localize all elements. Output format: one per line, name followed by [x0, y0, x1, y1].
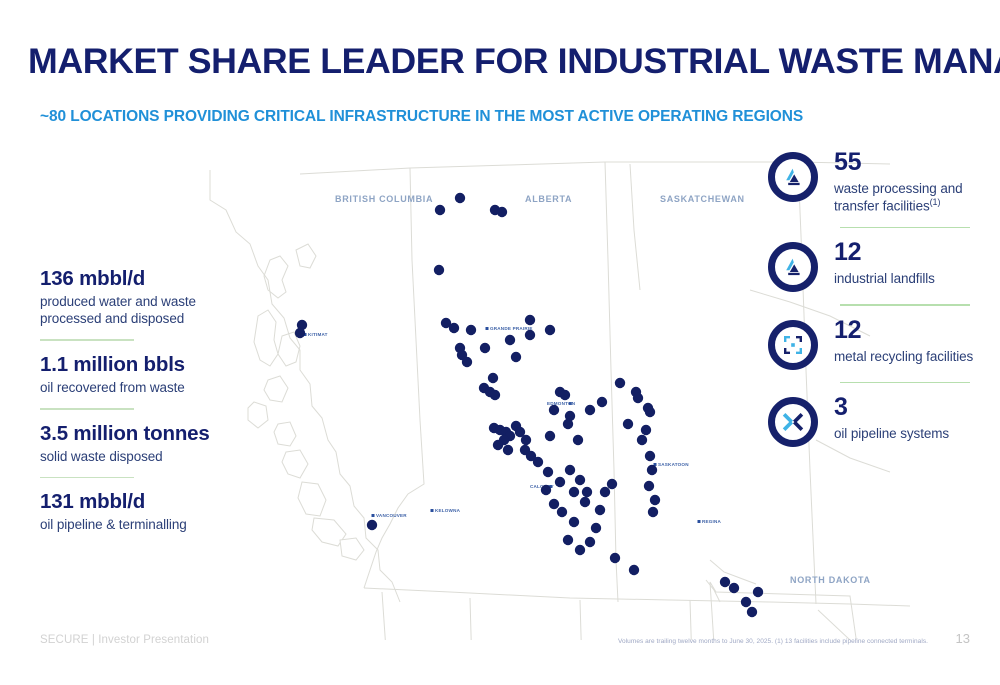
- map-site-dot: [462, 357, 472, 367]
- map-site-dot: [647, 465, 657, 475]
- landfill-icon: [768, 242, 818, 292]
- right-stat-value: 12: [834, 240, 935, 265]
- map-site-dot: [549, 499, 559, 509]
- right-stat-text: 3oil pipeline systems: [834, 395, 949, 442]
- left-stat-item: 136 mbbl/dproduced water and waste proce…: [40, 268, 255, 327]
- map-site-dot: [555, 477, 565, 487]
- map-site-dot: [466, 325, 476, 335]
- right-stat-description: waste processing and transfer facilities…: [834, 180, 983, 215]
- footer-brand: SECURE | Investor Presentation: [40, 634, 209, 646]
- map-site-dot: [497, 207, 507, 217]
- right-stat-value: 55: [834, 150, 983, 175]
- right-stat-description-text: oil pipeline systems: [834, 426, 949, 441]
- map-site-dot: [623, 419, 633, 429]
- slide-root: BRITISH COLUMBIAALBERTASASKATCHEWANNORTH…: [0, 0, 1000, 685]
- map-site-dot: [521, 435, 531, 445]
- map-province-label: NORTH DAKOTA: [790, 575, 871, 585]
- stat-divider: [840, 304, 970, 306]
- right-stats-list: 55waste processing and transfer faciliti…: [768, 150, 983, 447]
- right-stat-description: metal recycling facilities: [834, 348, 973, 365]
- right-stat-item: 55waste processing and transfer faciliti…: [768, 150, 983, 215]
- map-site-dot: [575, 545, 585, 555]
- map-city-label: VANCOUVER: [376, 513, 407, 518]
- left-stat-item: 131 mbbl/doil pipeline & terminalling: [40, 491, 255, 533]
- map-site-dot: [580, 497, 590, 507]
- map-site-dot: [503, 445, 513, 455]
- left-stat-item: 1.1 million bblsoil recovered from waste: [40, 354, 255, 396]
- footnote-text: Volumes are trailing twelve months to Ju…: [618, 638, 928, 645]
- map-city-label: KITIMAT: [308, 332, 328, 337]
- left-stats-list: 136 mbbl/dproduced water and waste proce…: [40, 268, 255, 534]
- map-site-dot: [569, 487, 579, 497]
- map-province-label: SASKATCHEWAN: [660, 194, 745, 204]
- map-site-dot: [753, 587, 763, 597]
- map-site-dot: [575, 475, 585, 485]
- map-site-dot: [607, 479, 617, 489]
- map-site-dot: [525, 330, 535, 340]
- map-city-label: KELOWNA: [435, 508, 461, 513]
- right-stat-item: 12industrial landfills: [768, 240, 983, 292]
- map-city-marker: [486, 327, 489, 330]
- map-site-dot: [595, 505, 605, 515]
- left-stat-value: 136 mbbl/d: [40, 268, 255, 291]
- metal-recycling-icon: [768, 320, 818, 370]
- map-site-dot: [541, 485, 551, 495]
- map-site-dot: [367, 520, 377, 530]
- map-city-label: EDMONTON: [547, 401, 576, 406]
- map-site-dot: [629, 565, 639, 575]
- map-site-dot: [493, 440, 503, 450]
- right-stat-description-text: waste processing and transfer facilities: [834, 181, 963, 214]
- map-site-dot: [549, 405, 559, 415]
- stat-divider: [40, 339, 134, 341]
- map-site-dot: [645, 451, 655, 461]
- page-number: 13: [956, 631, 970, 646]
- map-site-dot: [533, 457, 543, 467]
- map-site-dot: [480, 343, 490, 353]
- right-stat-description: oil pipeline systems: [834, 425, 949, 442]
- map-site-dot: [644, 481, 654, 491]
- map-site-dot: [455, 193, 465, 203]
- right-stat-item: 12metal recycling facilities: [768, 318, 983, 370]
- map-site-dot: [435, 205, 445, 215]
- map-site-dot: [637, 435, 647, 445]
- map-site-dot: [610, 553, 620, 563]
- map-site-dot: [449, 323, 459, 333]
- map-city-label: REGINA: [702, 519, 722, 524]
- map-site-dot: [720, 577, 730, 587]
- map-province-label: ALBERTA: [525, 194, 572, 204]
- map-site-dot: [650, 495, 660, 505]
- map-site-dot: [600, 487, 610, 497]
- map-province-label: BRITISH COLUMBIA: [335, 194, 433, 204]
- map-site-dot: [741, 597, 751, 607]
- left-stat-description: oil pipeline & terminalling: [40, 516, 255, 533]
- map-us-states: [382, 560, 870, 640]
- map-site-dot: [434, 265, 444, 275]
- footnote-marker: (1): [930, 197, 941, 207]
- map-site-dot: [563, 419, 573, 429]
- right-stat-text: 12metal recycling facilities: [834, 318, 973, 365]
- map-site-dot: [747, 607, 757, 617]
- map-site-dot: [729, 583, 739, 593]
- map-city-marker: [372, 514, 375, 517]
- map-site-dot: [569, 517, 579, 527]
- map-site-dot: [585, 405, 595, 415]
- stat-divider: [40, 408, 134, 410]
- waste-facility-icon: [768, 152, 818, 202]
- right-stat-description-text: metal recycling facilities: [834, 349, 973, 364]
- right-stat-item: 3oil pipeline systems: [768, 395, 983, 447]
- right-stat-description-text: industrial landfills: [834, 271, 935, 286]
- left-stat-value: 3.5 million tonnes: [40, 423, 255, 446]
- left-stat-value: 131 mbbl/d: [40, 491, 255, 514]
- map-site-dot: [525, 315, 535, 325]
- stat-divider: [840, 227, 970, 229]
- map-site-dot: [490, 390, 500, 400]
- stat-divider: [840, 382, 970, 384]
- right-stat-value: 3: [834, 395, 949, 420]
- map-site-dot: [597, 397, 607, 407]
- map-site-dot: [645, 407, 655, 417]
- map-site-dot: [633, 393, 643, 403]
- stat-divider: [40, 477, 134, 479]
- map-site-dot: [557, 507, 567, 517]
- right-stat-text: 12industrial landfills: [834, 240, 935, 287]
- left-stat-description: oil recovered from waste: [40, 379, 255, 396]
- map-site-dot: [505, 335, 515, 345]
- map-site-dots: [295, 193, 763, 617]
- map-site-dot: [543, 467, 553, 477]
- map-site-dot: [585, 537, 595, 547]
- map-site-dot: [615, 378, 625, 388]
- map-site-dot: [511, 352, 521, 362]
- right-stat-text: 55waste processing and transfer faciliti…: [834, 150, 983, 215]
- map-site-dot: [573, 435, 583, 445]
- page-subtitle: ~80 LOCATIONS PROVIDING CRITICAL INFRAST…: [40, 108, 803, 126]
- map-site-dot: [591, 523, 601, 533]
- left-stat-description: solid waste disposed: [40, 448, 255, 465]
- map-site-dot: [565, 465, 575, 475]
- map-site-dot: [545, 325, 555, 335]
- map-site-dot: [563, 535, 573, 545]
- pipeline-valve-icon: [768, 397, 818, 447]
- left-stat-value: 1.1 million bbls: [40, 354, 255, 377]
- right-stat-value: 12: [834, 318, 973, 343]
- left-stat-item: 3.5 million tonnessolid waste disposed: [40, 423, 255, 465]
- map-city-marker: [698, 520, 701, 523]
- map-city-marker: [431, 509, 434, 512]
- map-coast-shapes: [248, 244, 364, 560]
- map-site-dot: [648, 507, 658, 517]
- map-city-label: GRANDE PRAIRIE: [490, 326, 533, 331]
- map-site-dot: [582, 487, 592, 497]
- page-title: MARKET SHARE LEADER FOR INDUSTRIAL WASTE…: [28, 42, 1000, 82]
- right-stat-description: industrial landfills: [834, 270, 935, 287]
- map-site-dot: [295, 328, 305, 338]
- map-site-dot: [560, 390, 570, 400]
- map-city-label: SASKATOON: [658, 462, 689, 467]
- map-site-dot: [488, 373, 498, 383]
- left-stat-description: produced water and waste processed and d…: [40, 293, 255, 328]
- map-site-dot: [641, 425, 651, 435]
- map-site-dot: [545, 431, 555, 441]
